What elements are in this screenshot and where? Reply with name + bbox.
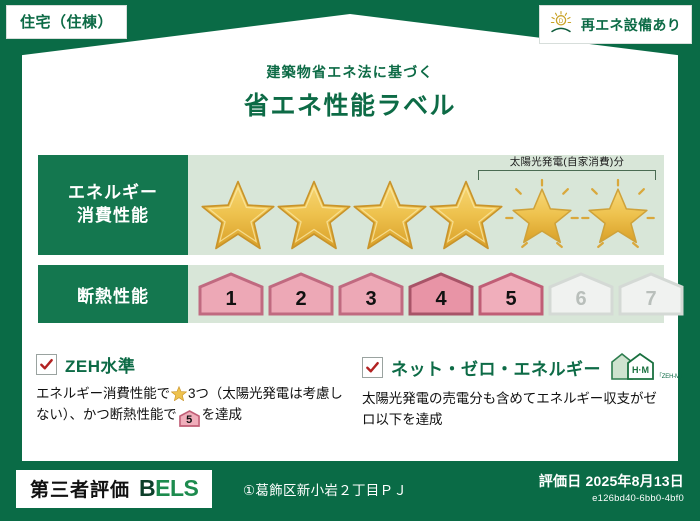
- bels-badge: 第三者評価 BELS: [16, 470, 212, 508]
- zeh-standard-title: ZEH水準: [65, 352, 136, 377]
- insulation-chip-value: 7: [645, 288, 656, 311]
- insulation-level-chips: 1 2 3 4 5: [198, 271, 654, 317]
- insulation-chip: 6: [548, 272, 614, 316]
- evaluation-info: 評価日 2025年8月13日 e126bd40-6bb0-4bf0: [539, 471, 684, 504]
- insulation-chip: 1: [198, 272, 264, 316]
- energy-star-rating: [194, 177, 660, 253]
- insulation-chip: 7: [618, 272, 684, 316]
- bels-en-text: BELS: [139, 475, 198, 502]
- insulation-chip-value: 5: [505, 288, 516, 311]
- zeh-standard-block: ZEH水準 エネルギー消費性能で 3つ（太陽光発電は考慮しない）、かつ断熱性能で…: [36, 352, 356, 427]
- bels-letter-b: B: [139, 475, 155, 501]
- star-icon: [276, 178, 352, 252]
- zeh-m-caption: 「ZEH-M」: [656, 371, 686, 382]
- energy-rating-panel: 太陽光発電(自家消費)分: [188, 155, 664, 255]
- svg-text:D: D: [559, 18, 564, 25]
- insulation-chip: 5: [478, 272, 544, 316]
- energy-performance-label: エネルギー 消費性能: [38, 155, 188, 255]
- zeh-desc-part1: エネルギー消費性能で: [36, 386, 170, 401]
- net-zero-energy-header: ネット・ゼロ・エネルギー H·M 「ZEH-M」: [362, 352, 662, 382]
- insulation-performance-label: 断熱性能: [38, 265, 188, 323]
- insulation-label-text: 断熱性能: [77, 282, 149, 307]
- insulation-chip-value: 2: [295, 288, 306, 311]
- checkbox-checked-icon: [362, 357, 383, 378]
- evaluation-date: 評価日 2025年8月13日: [539, 471, 684, 491]
- solar-note-bracket: [478, 170, 656, 180]
- insulation-chip-inline: 5: [179, 410, 200, 427]
- star-icon: [428, 178, 504, 252]
- net-zero-energy-description: 太陽光発電の売電分も含めてエネルギー収支がゼロ以下を達成: [362, 389, 662, 431]
- building-type-tag: 住宅（住棟）: [6, 5, 127, 39]
- checkbox-checked-icon: [36, 354, 57, 375]
- bels-letters-els: ELS: [155, 475, 198, 501]
- label-title-block: 建築物省エネ法に基づく 省エネ性能ラベル: [0, 62, 700, 122]
- insulation-chip-value: 6: [575, 288, 586, 311]
- zeh-desc-part3: を達成: [202, 407, 242, 422]
- zeh-standard-description: エネルギー消費性能で 3つ（太陽光発電は考慮しない）、かつ断熱性能で 5 を達成: [36, 384, 356, 427]
- zeh-m-logo: H·M 「ZEH-M」: [611, 352, 686, 382]
- energy-performance-label: 住宅（住棟） D 再エネ設備あり 建築物省エネ法に基づ: [0, 0, 700, 521]
- label-footer: 第三者評価 BELS ①葛飾区新小岩２丁目ＰＪ 評価日 2025年8月13日 e…: [0, 461, 700, 521]
- energy-performance-row: エネルギー 消費性能 太陽光発電(自家消費)分: [38, 155, 664, 255]
- bels-jp-text: 第三者評価: [30, 475, 130, 502]
- star-icon: [352, 178, 428, 252]
- star-solar-icon: [580, 178, 656, 252]
- insulation-chip: 3: [338, 272, 404, 316]
- title-main: 省エネ性能ラベル: [0, 86, 700, 122]
- net-zero-energy-block: ネット・ゼロ・エネルギー H·M 「ZEH-M」 太陽光発電の売電分も含めてエネ…: [362, 352, 662, 431]
- insulation-chip: 4: [408, 272, 474, 316]
- building-type-label: 住宅（住棟）: [20, 14, 113, 31]
- evaluation-id: e126bd40-6bb0-4bf0: [539, 493, 684, 504]
- star-icon: [200, 178, 276, 252]
- svg-text:H·M: H·M: [632, 365, 649, 375]
- insulation-chip-inline-value: 5: [186, 414, 192, 426]
- energy-label-line1: エネルギー: [68, 182, 158, 205]
- title-subtitle: 建築物省エネ法に基づく: [0, 62, 700, 82]
- solar-note-caption: 太陽光発電(自家消費)分: [472, 154, 662, 169]
- insulation-chip: 2: [268, 272, 334, 316]
- insulation-chip-value: 1: [225, 288, 236, 311]
- solar-sun-icon: D: [548, 10, 574, 39]
- net-zero-energy-title: ネット・ゼロ・エネルギー: [391, 355, 601, 380]
- insulation-performance-row: 断熱性能 1 2 3 4: [38, 265, 664, 323]
- energy-label-line2: 消費性能: [77, 205, 149, 228]
- zeh-standard-header: ZEH水準: [36, 352, 356, 377]
- renewable-energy-label: 再エネ設備あり: [581, 15, 681, 35]
- renewable-energy-badge: D 再エネ設備あり: [539, 5, 692, 44]
- property-address: ①葛飾区新小岩２丁目ＰＪ: [243, 479, 407, 499]
- star-icon: [171, 386, 187, 402]
- insulation-chip-value: 3: [365, 288, 376, 311]
- star-solar-icon: [504, 178, 580, 252]
- insulation-rating-panel: 1 2 3 4 5: [188, 265, 664, 323]
- insulation-chip-value: 4: [435, 288, 446, 311]
- solar-self-consumption-note: 太陽光発電(自家消費)分: [472, 154, 662, 180]
